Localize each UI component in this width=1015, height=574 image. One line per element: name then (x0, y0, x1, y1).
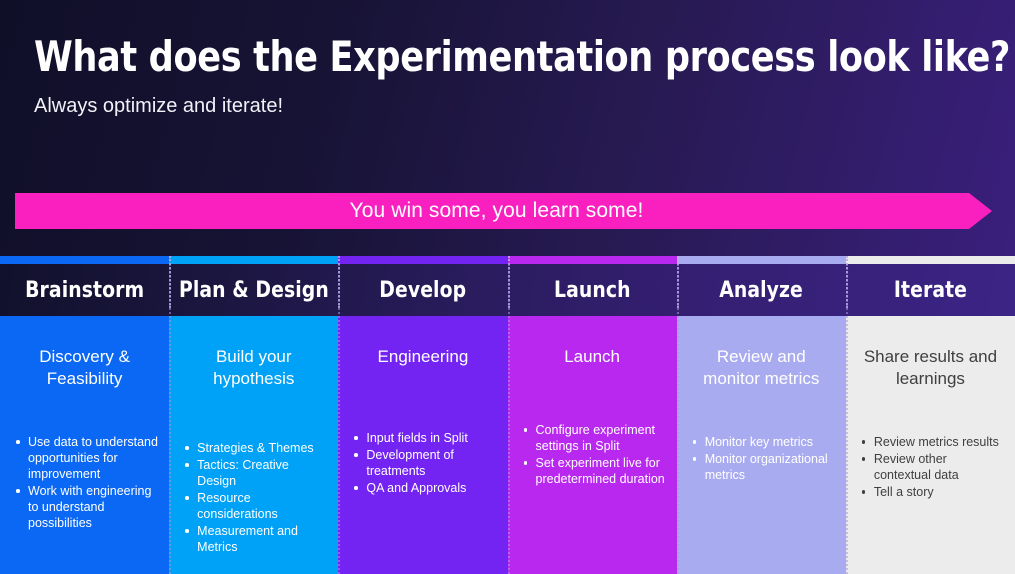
column-header: Launch (508, 264, 677, 316)
column-header-label: Brainstorm (25, 278, 144, 303)
process-column-launch[interactable]: LaunchLaunchConfigure experiment setting… (508, 256, 677, 574)
column-body: LaunchConfigure experiment settings in S… (508, 316, 677, 574)
list-item: Tell a story (860, 484, 1005, 500)
column-bullet-list: Monitor key metricsMonitor organizationa… (691, 434, 836, 484)
column-header-label: Develop (379, 278, 466, 303)
column-header: Analyze (677, 264, 846, 316)
column-subtitle: Build your hypothesis (183, 346, 324, 390)
column-accent-bar (508, 256, 677, 264)
list-item: Review metrics results (860, 434, 1005, 450)
list-item: Review other contextual data (860, 451, 1005, 483)
list-item: Tactics: Creative Design (183, 457, 328, 489)
column-body: Discovery & FeasibilityUse data to under… (0, 316, 169, 574)
column-header-label: Plan & Design (179, 278, 329, 303)
process-columns: BrainstormDiscovery & FeasibilityUse dat… (0, 256, 1015, 574)
slide-canvas: What does the Experimentation process lo… (0, 0, 1015, 574)
column-header: Plan & Design (169, 264, 338, 316)
highlight-banner-label: You win some, you learn some! (350, 199, 658, 223)
column-header: Brainstorm (0, 264, 169, 316)
list-item: Configure experiment settings in Split (522, 422, 667, 454)
column-subtitle: Share results and learnings (860, 346, 1001, 390)
column-subtitle: Review and monitor metrics (691, 346, 832, 390)
column-subtitle: Discovery & Feasibility (14, 346, 155, 390)
column-header-label: Launch (554, 278, 631, 303)
column-body: Share results and learningsReview metric… (846, 316, 1015, 574)
highlight-banner: You win some, you learn some! (15, 193, 992, 229)
column-subtitle: Engineering (352, 346, 493, 368)
column-bullet-list: Input fields in SplitDevelopment of trea… (352, 430, 497, 497)
column-divider (677, 256, 679, 308)
list-item: Monitor key metrics (691, 434, 836, 450)
list-item: Monitor organizational metrics (691, 451, 836, 483)
column-subtitle: Launch (522, 346, 663, 368)
page-subtitle: Always optimize and iterate! (34, 93, 283, 119)
column-accent-bar (169, 256, 338, 264)
column-header: Develop (338, 264, 507, 316)
list-item: Set experiment live for predetermined du… (522, 455, 667, 487)
column-body: Build your hypothesisStrategies & Themes… (169, 316, 338, 574)
column-bullet-list: Configure experiment settings in SplitSe… (522, 422, 667, 488)
column-accent-bar (338, 256, 507, 264)
list-item: Work with engineering to understand poss… (14, 483, 159, 531)
list-item: Input fields in Split (352, 430, 497, 446)
column-header: Iterate (846, 264, 1015, 316)
column-accent-bar (677, 256, 846, 264)
column-bullet-list: Use data to understand opportunities for… (14, 434, 159, 532)
list-item: Strategies & Themes (183, 440, 328, 456)
column-bullet-list: Review metrics resultsReview other conte… (860, 434, 1005, 501)
list-item: QA and Approvals (352, 480, 497, 496)
list-item: Development of treatments (352, 447, 497, 479)
column-body: EngineeringInput fields in SplitDevelopm… (338, 316, 507, 574)
column-divider (338, 256, 340, 308)
list-item: Measurement and Metrics (183, 523, 328, 555)
list-item: Use data to understand opportunities for… (14, 434, 159, 482)
process-column-analyze[interactable]: AnalyzeReview and monitor metricsMonitor… (677, 256, 846, 574)
column-divider (846, 256, 848, 308)
column-accent-bar (0, 256, 169, 264)
process-column-iterate[interactable]: IterateShare results and learningsReview… (846, 256, 1015, 574)
page-title: What does the Experimentation process lo… (34, 34, 871, 79)
column-divider (508, 256, 510, 308)
column-accent-bar (846, 256, 1015, 264)
column-divider (169, 256, 171, 308)
process-column-brainstorm[interactable]: BrainstormDiscovery & FeasibilityUse dat… (0, 256, 169, 574)
process-column-plan-design[interactable]: Plan & DesignBuild your hypothesisStrate… (169, 256, 338, 574)
column-bullet-list: Strategies & ThemesTactics: Creative Des… (183, 440, 328, 556)
column-header-label: Analyze (719, 278, 803, 303)
column-body: Review and monitor metricsMonitor key me… (677, 316, 846, 574)
process-column-develop[interactable]: DevelopEngineeringInput fields in SplitD… (338, 256, 507, 574)
list-item: Resource considerations (183, 490, 328, 522)
column-header-label: Iterate (894, 278, 967, 303)
